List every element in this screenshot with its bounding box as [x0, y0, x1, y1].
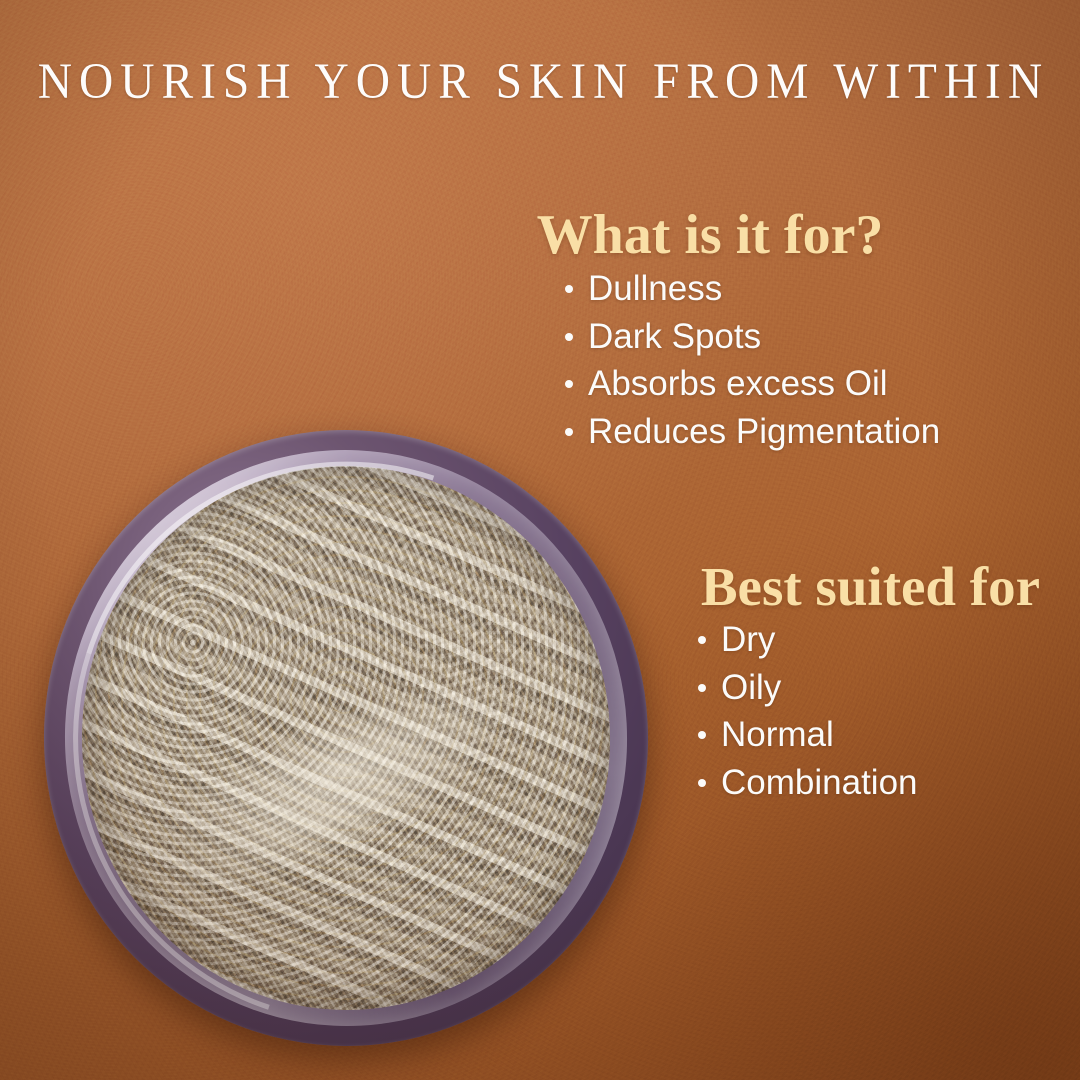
skin-types-list: Dry Oily Normal Combination — [696, 616, 918, 806]
list-item: Reduces Pigmentation — [563, 408, 940, 455]
section-title-what-is-it-for: What is it for? — [500, 205, 920, 265]
list-item: Normal — [696, 711, 918, 758]
face-powder-surface — [68, 453, 624, 1023]
list-item: Dark Spots — [563, 313, 940, 360]
page-headline: NOURISH YOUR SKIN FROM WITHIN — [38, 56, 1042, 110]
list-item: Combination — [696, 759, 918, 806]
section-what-is-it-for: What is it for? Dullness Dark Spots Abso… — [500, 205, 920, 455]
list-item: Oily — [696, 664, 918, 711]
section-title-best-suited-for: Best suited for — [560, 557, 1040, 616]
benefits-list: Dullness Dark Spots Absorbs excess Oil R… — [563, 265, 940, 455]
list-item: Dry — [696, 616, 918, 663]
list-item: Absorbs excess Oil — [563, 360, 940, 407]
list-item: Dullness — [563, 265, 940, 312]
promo-graphic: NOURISH YOUR SKIN FROM WITHIN What is it… — [0, 0, 1080, 1080]
section-best-suited-for: Best suited for Dry Oily Normal Combinat… — [560, 557, 1040, 806]
